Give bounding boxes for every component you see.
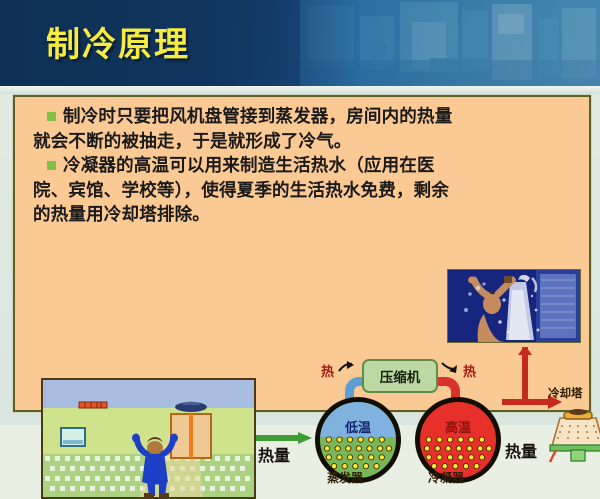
bullet-square-icon bbox=[47, 112, 56, 121]
room-illustration bbox=[41, 378, 256, 499]
refrigeration-cycle-diagram: 压缩机 热 热 低温 bbox=[311, 359, 511, 499]
compressor-box: 压缩机 bbox=[362, 359, 438, 393]
content-panel: 制冷时只要把风机盘管接到蒸发器，房间内的热量就会不断的被抽走，于是就形成了冷气。… bbox=[13, 95, 591, 412]
heat-label-left: 热 bbox=[321, 361, 334, 380]
cooling-tower-icon bbox=[546, 402, 600, 464]
heat-arrow-left-icon bbox=[338, 361, 354, 373]
evaporator-inner-label: 低温 bbox=[320, 417, 396, 436]
bullet-text-block: 制冷时只要把风机盘管接到蒸发器，房间内的热量就会不断的被抽走，于是就形成了冷气。… bbox=[33, 105, 453, 228]
evaporator-caption: 蒸发器 bbox=[327, 469, 363, 486]
heat-arrow-right-icon bbox=[441, 361, 457, 373]
header-divider bbox=[0, 86, 600, 94]
shower-photo bbox=[447, 269, 581, 343]
slide-root: 制冷原理 制冷时只要把风机盘管接到蒸发器，房间内的热量就会不断的被抽走，于是就形… bbox=[0, 0, 600, 425]
condenser-caption: 冷凝器 bbox=[428, 469, 464, 486]
page-title: 制冷原理 bbox=[46, 17, 190, 66]
bullet-item-2: 冷凝器的高温可以用来制造生活热水（应用在医院、宾馆、学校等），使得夏季的生活热水… bbox=[33, 154, 453, 228]
bullet-square-icon bbox=[47, 161, 56, 170]
bullet-item-1: 制冷时只要把风机盘管接到蒸发器，房间内的热量就会不断的被抽走，于是就形成了冷气。 bbox=[33, 105, 453, 154]
bullet-text-1: 制冷时只要把风机盘管接到蒸发器，房间内的热量就会不断的被抽走，于是就形成了冷气。 bbox=[33, 107, 452, 152]
condenser-inner-label: 高温 bbox=[420, 417, 496, 436]
heat-label-right: 热 bbox=[463, 361, 476, 380]
cooling-tower-label: 冷却塔 bbox=[548, 385, 583, 401]
slide-header: 制冷原理 bbox=[0, 0, 600, 86]
bullet-text-2: 冷凝器的高温可以用来制造生活热水（应用在医院、宾馆、学校等），使得夏季的生活热水… bbox=[33, 156, 449, 225]
heat-flow-label-left: 热量 bbox=[258, 442, 290, 466]
